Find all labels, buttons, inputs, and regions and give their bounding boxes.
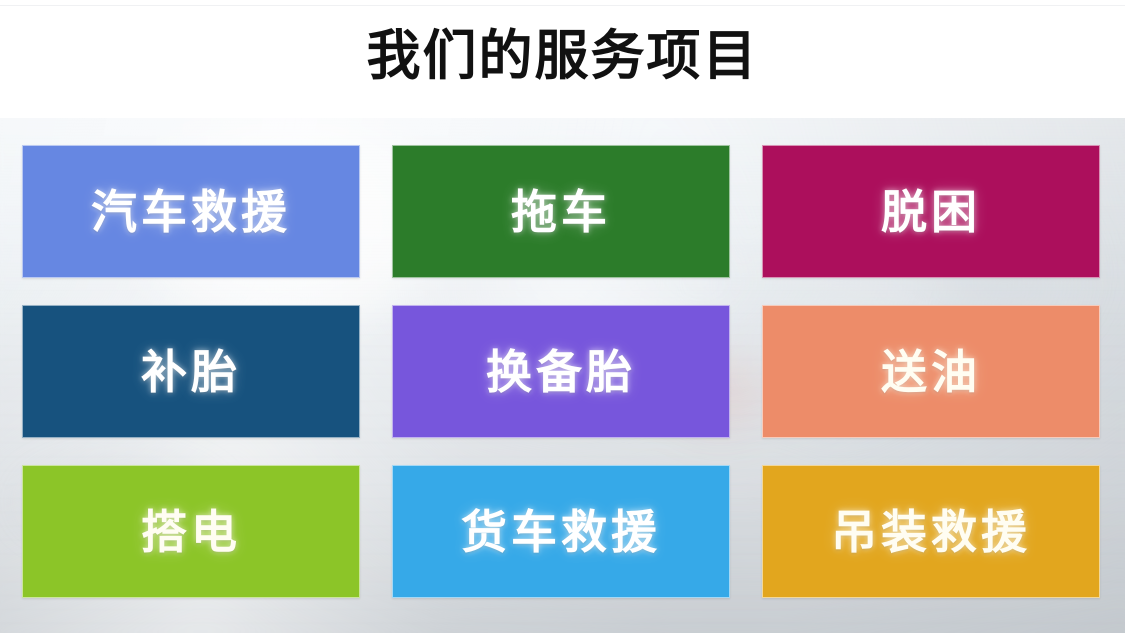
service-cell[interactable]: 补胎	[22, 305, 360, 438]
service-cell-label: 换备胎	[486, 349, 636, 395]
service-cell[interactable]: 送油	[762, 305, 1100, 438]
header-band: 我们的服务项目	[0, 0, 1125, 118]
service-cell-label: 汽车救援	[91, 189, 291, 235]
service-cell[interactable]: 换备胎	[392, 305, 730, 438]
service-cell-label: 搭电	[141, 509, 241, 555]
service-cell[interactable]: 汽车救援	[22, 145, 360, 278]
slide-root: 我们的服务项目 汽车救援拖车脱困补胎换备胎送油搭电货车救援吊装救援	[0, 0, 1125, 633]
service-cell-label: 货车救援	[461, 509, 661, 555]
service-cell-label: 吊装救援	[831, 509, 1031, 555]
service-cell-label: 脱困	[881, 189, 981, 235]
service-cell[interactable]: 搭电	[22, 465, 360, 598]
service-cell[interactable]: 脱困	[762, 145, 1100, 278]
service-cell-label: 送油	[881, 349, 981, 395]
service-cell-label: 拖车	[511, 189, 611, 235]
page-title: 我们的服务项目	[0, 23, 1125, 89]
service-cell[interactable]: 吊装救援	[762, 465, 1100, 598]
service-cell-label: 补胎	[141, 349, 241, 395]
service-cell[interactable]: 货车救援	[392, 465, 730, 598]
service-grid: 汽车救援拖车脱困补胎换备胎送油搭电货车救援吊装救援	[22, 145, 1103, 598]
service-cell[interactable]: 拖车	[392, 145, 730, 278]
top-hairline	[0, 5, 1125, 6]
